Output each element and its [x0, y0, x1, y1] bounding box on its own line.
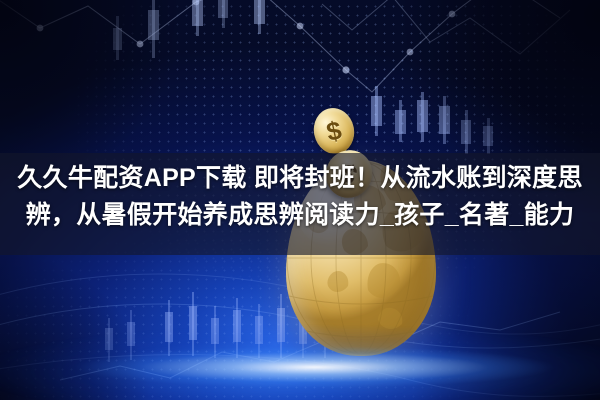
light-sweep-glow — [0, 300, 600, 400]
banner-image: $ $ 久久牛配资APP下载 即将封班！从流水账到深度思辨，从暑假开始养成思辨阅… — [0, 0, 600, 400]
page-title: 久久牛配资APP下载 即将封班！从流水账到深度思辨，从暑假开始养成思辨阅读力_孩… — [0, 160, 600, 234]
